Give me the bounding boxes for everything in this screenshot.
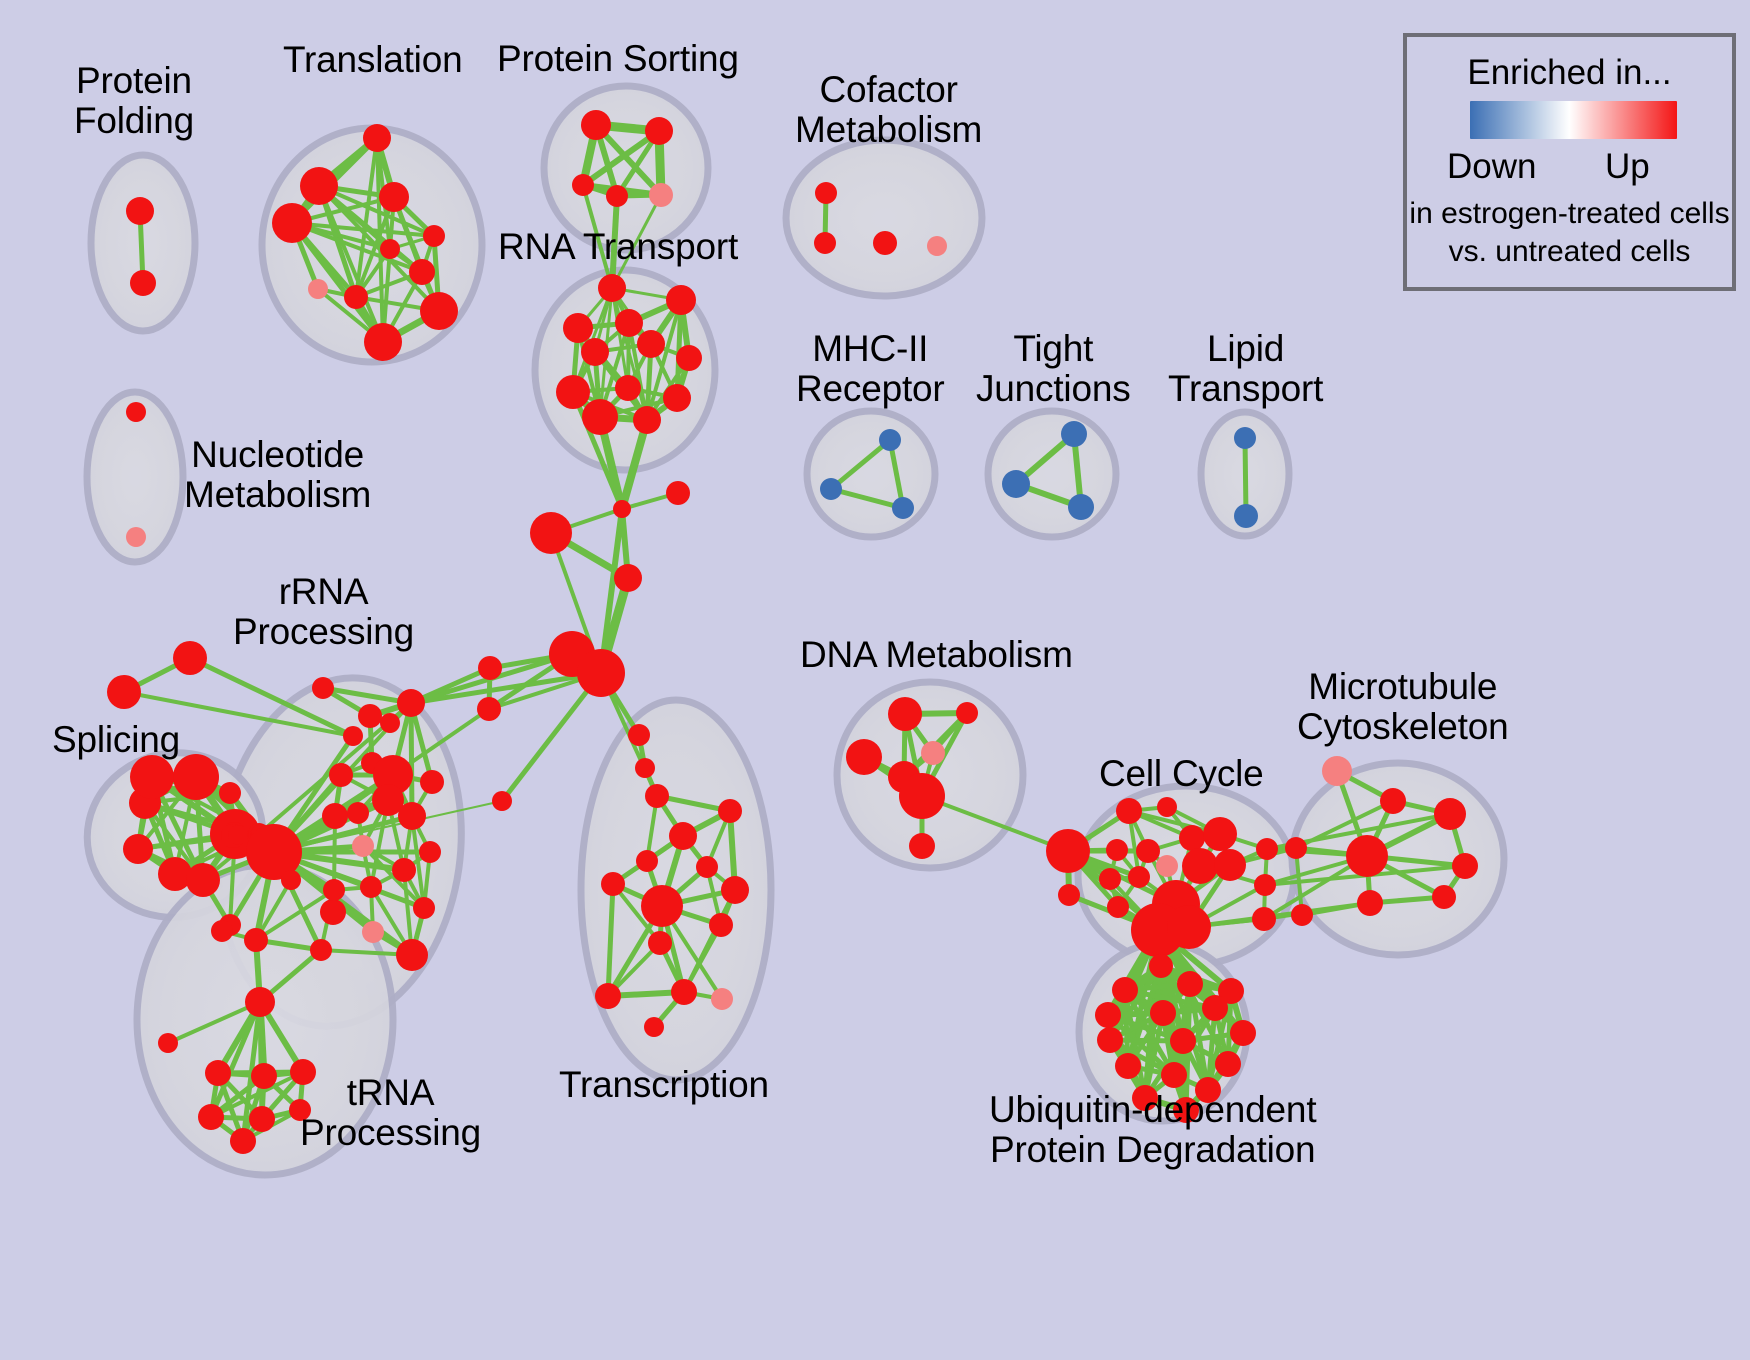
cluster-label-tight-junctions: Tight Junctions: [976, 329, 1131, 409]
network-node[interactable]: [205, 1060, 231, 1086]
network-node[interactable]: [1112, 977, 1138, 1003]
network-node[interactable]: [329, 763, 353, 787]
network-node[interactable]: [1107, 896, 1129, 918]
network-node[interactable]: [666, 285, 696, 315]
network-node[interactable]: [1346, 835, 1388, 877]
legend-title: Enriched in...: [1407, 53, 1732, 93]
network-node[interactable]: [158, 1033, 178, 1053]
network-node[interactable]: [577, 649, 625, 697]
network-node[interactable]: [186, 863, 220, 897]
cluster-label-nucleotide-metabolism: Nucleotide Metabolism: [184, 435, 371, 515]
network-node[interactable]: [420, 770, 444, 794]
network-node[interactable]: [228, 825, 248, 845]
network-node[interactable]: [1202, 995, 1228, 1021]
network-node[interactable]: [173, 754, 219, 800]
network-node[interactable]: [312, 677, 334, 699]
network-node[interactable]: [873, 231, 897, 255]
network-node[interactable]: [615, 375, 641, 401]
cluster-label-protein-sorting: Protein Sorting: [497, 39, 739, 79]
network-node[interactable]: [380, 239, 400, 259]
network-node[interactable]: [1097, 1027, 1123, 1053]
network-node[interactable]: [244, 928, 268, 952]
network-node[interactable]: [1234, 504, 1258, 528]
network-node[interactable]: [1116, 798, 1142, 824]
network-node[interactable]: [300, 167, 338, 205]
network-node[interactable]: [711, 988, 733, 1010]
network-node[interactable]: [927, 236, 947, 256]
network-node[interactable]: [581, 338, 609, 366]
cluster-label-transcription: Transcription: [559, 1065, 769, 1105]
network-node[interactable]: [1002, 470, 1030, 498]
network-node[interactable]: [126, 197, 154, 225]
legend-down-label: Down: [1447, 147, 1536, 187]
network-node[interactable]: [173, 641, 207, 675]
network-node[interactable]: [211, 920, 233, 942]
network-node[interactable]: [892, 497, 914, 519]
network-node[interactable]: [663, 384, 691, 412]
network-node[interactable]: [308, 279, 328, 299]
network-node[interactable]: [322, 803, 348, 829]
network-node[interactable]: [1136, 839, 1160, 863]
network-node[interactable]: [637, 330, 665, 358]
network-node[interactable]: [158, 857, 192, 891]
network-node[interactable]: [1061, 421, 1087, 447]
cluster-label-trna-processing: tRNA Processing: [300, 1073, 481, 1153]
network-node[interactable]: [1203, 817, 1237, 851]
network-node[interactable]: [1149, 954, 1173, 978]
cluster-label-dna-metabolism: DNA Metabolism: [800, 635, 1073, 675]
network-node[interactable]: [1179, 825, 1205, 851]
network-node[interactable]: [1156, 855, 1178, 877]
cluster-label-protein-folding: Protein Folding: [74, 61, 194, 141]
network-node[interactable]: [1157, 797, 1177, 817]
network-node[interactable]: [1230, 1020, 1256, 1046]
network-node[interactable]: [413, 897, 435, 919]
network-node[interactable]: [245, 987, 275, 1017]
network-node[interactable]: [362, 921, 384, 943]
network-node[interactable]: [718, 799, 742, 823]
network-node[interactable]: [815, 182, 837, 204]
network-node[interactable]: [1161, 1062, 1187, 1088]
network-node[interactable]: [272, 203, 312, 243]
network-node[interactable]: [1099, 868, 1121, 890]
network-node[interactable]: [1357, 890, 1383, 916]
network-node[interactable]: [1452, 853, 1478, 879]
network-node[interactable]: [347, 802, 369, 824]
network-node[interactable]: [1170, 1028, 1196, 1054]
network-node[interactable]: [628, 724, 650, 746]
network-node[interactable]: [1150, 1000, 1176, 1026]
network-node[interactable]: [615, 309, 643, 337]
cluster-label-rna-transport: RNA Transport: [498, 227, 738, 267]
legend-panel: Enriched in... Down Up in estrogen-treat…: [1403, 33, 1736, 291]
cluster-label-rrna-processing: rRNA Processing: [233, 572, 414, 652]
network-node[interactable]: [1095, 1002, 1121, 1028]
cluster-label-lipid-transport: Lipid Transport: [1168, 329, 1323, 409]
legend-subtitle-line1: in estrogen-treated cells: [1407, 197, 1732, 231]
network-node[interactable]: [635, 758, 655, 778]
network-node[interactable]: [1322, 756, 1352, 786]
network-node[interactable]: [633, 406, 661, 434]
network-node[interactable]: [1291, 904, 1313, 926]
network-node[interactable]: [130, 270, 156, 296]
legend-up-label: Up: [1605, 147, 1650, 187]
network-node[interactable]: [1177, 971, 1203, 997]
network-node[interactable]: [249, 1106, 275, 1132]
network-node[interactable]: [1256, 838, 1278, 860]
network-node[interactable]: [921, 741, 945, 765]
network-node[interactable]: [530, 512, 572, 554]
enrichment-map-figure: Protein FoldingTranslationProtein Sortin…: [0, 0, 1750, 1360]
network-node[interactable]: [397, 689, 425, 717]
network-node[interactable]: [721, 876, 749, 904]
network-node[interactable]: [126, 402, 146, 422]
cluster-hull-mhc_ii: [807, 411, 935, 537]
network-node[interactable]: [364, 323, 402, 361]
network-node[interactable]: [666, 481, 690, 505]
network-node[interactable]: [477, 697, 501, 721]
network-node[interactable]: [598, 274, 626, 302]
cluster-label-cofactor-metabolism: Cofactor Metabolism: [795, 70, 982, 150]
cluster-label-microtubule-cytoskeleton: Microtubule Cytoskeleton: [1297, 667, 1509, 747]
network-node[interactable]: [1252, 907, 1276, 931]
network-node[interactable]: [1234, 427, 1256, 449]
network-node[interactable]: [1046, 829, 1090, 873]
edge: [411, 703, 412, 816]
cluster-label-splicing: Splicing: [52, 720, 180, 760]
network-node[interactable]: [595, 983, 621, 1009]
network-node[interactable]: [556, 375, 590, 409]
network-node[interactable]: [281, 870, 301, 890]
network-node[interactable]: [126, 527, 146, 547]
network-node[interactable]: [219, 782, 241, 804]
network-node[interactable]: [1068, 494, 1094, 520]
network-node[interactable]: [696, 856, 718, 878]
network-node[interactable]: [582, 399, 618, 435]
network-node[interactable]: [130, 755, 174, 799]
network-node[interactable]: [123, 834, 153, 864]
network-node[interactable]: [321, 900, 343, 922]
cluster-label-cell-cycle: Cell Cycle: [1099, 754, 1264, 794]
network-node[interactable]: [198, 1104, 224, 1130]
network-node[interactable]: [1254, 874, 1276, 896]
network-node[interactable]: [645, 117, 673, 145]
network-node[interactable]: [1128, 866, 1150, 888]
network-node[interactable]: [601, 872, 625, 896]
network-node[interactable]: [563, 313, 593, 343]
network-node[interactable]: [419, 841, 441, 863]
network-node[interactable]: [899, 773, 945, 819]
network-node[interactable]: [648, 931, 672, 955]
legend-color-bar: [1470, 101, 1677, 139]
network-node[interactable]: [676, 345, 702, 371]
legend-subtitle-line2: vs. untreated cells: [1407, 235, 1732, 269]
network-node[interactable]: [1167, 905, 1211, 949]
network-node[interactable]: [820, 478, 842, 500]
network-node[interactable]: [645, 784, 669, 808]
network-node[interactable]: [1215, 1051, 1241, 1077]
network-node[interactable]: [606, 185, 628, 207]
network-node[interactable]: [251, 1063, 277, 1089]
cluster-hull-cofactor_metabolism: [786, 140, 982, 296]
network-node[interactable]: [492, 791, 512, 811]
network-node[interactable]: [641, 885, 683, 927]
network-node[interactable]: [344, 285, 368, 309]
network-node[interactable]: [1058, 884, 1080, 906]
network-node[interactable]: [636, 850, 658, 872]
network-node[interactable]: [1285, 837, 1307, 859]
network-node[interactable]: [398, 802, 426, 830]
network-node[interactable]: [669, 822, 697, 850]
network-node[interactable]: [814, 232, 836, 254]
network-node[interactable]: [709, 913, 733, 937]
network-node[interactable]: [392, 858, 416, 882]
network-node[interactable]: [352, 835, 374, 857]
network-node[interactable]: [614, 564, 642, 592]
network-node[interactable]: [380, 713, 400, 733]
network-node[interactable]: [1434, 798, 1466, 830]
network-node[interactable]: [671, 979, 697, 1005]
network-node[interactable]: [1214, 849, 1246, 881]
network-node[interactable]: [107, 675, 141, 709]
network-node[interactable]: [581, 110, 611, 140]
network-node[interactable]: [360, 876, 382, 898]
network-node[interactable]: [1432, 885, 1456, 909]
network-node[interactable]: [396, 939, 428, 971]
network-node[interactable]: [379, 182, 409, 212]
network-node[interactable]: [420, 292, 458, 330]
cluster-label-mhc-ii-receptor: MHC-II Receptor: [796, 329, 945, 409]
network-node[interactable]: [343, 726, 363, 746]
network-node[interactable]: [888, 697, 922, 731]
network-node[interactable]: [358, 704, 382, 728]
network-node[interactable]: [423, 225, 445, 247]
network-node[interactable]: [363, 124, 391, 152]
network-node[interactable]: [879, 429, 901, 451]
network-node[interactable]: [409, 259, 435, 285]
network-node[interactable]: [478, 656, 502, 680]
network-node[interactable]: [572, 174, 594, 196]
network-node[interactable]: [230, 1128, 256, 1154]
network-node[interactable]: [1106, 839, 1128, 861]
network-node[interactable]: [1115, 1053, 1141, 1079]
network-node[interactable]: [649, 183, 673, 207]
network-node[interactable]: [1380, 788, 1406, 814]
network-node[interactable]: [909, 833, 935, 859]
cluster-label-ubiquitin-degradation: Ubiquitin-dependent Protein Degradation: [989, 1090, 1316, 1170]
network-node[interactable]: [956, 702, 978, 724]
cluster-label-translation: Translation: [283, 40, 462, 80]
network-node[interactable]: [323, 879, 345, 901]
network-node[interactable]: [846, 739, 882, 775]
network-node[interactable]: [310, 939, 332, 961]
network-node[interactable]: [644, 1017, 664, 1037]
network-node[interactable]: [1182, 848, 1218, 884]
network-node[interactable]: [613, 500, 631, 518]
